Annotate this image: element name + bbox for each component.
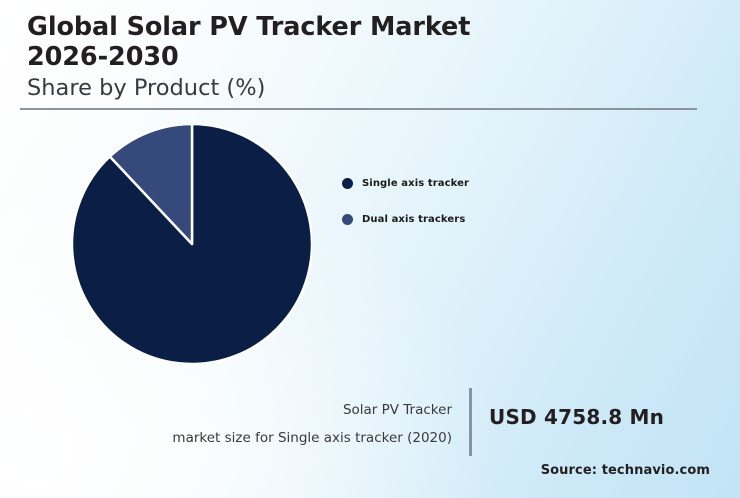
market-size-label: Solar PV Tracker market size for Single … bbox=[90, 396, 452, 452]
market-size-label-line1: Solar PV Tracker bbox=[90, 396, 452, 424]
legend-color-swatch-icon bbox=[342, 214, 353, 225]
legend-item-single-axis-tracker[interactable]: Single axis tracker bbox=[342, 170, 469, 196]
title-divider-rule bbox=[20, 108, 697, 110]
market-size-value: USD 4758.8 Mn bbox=[489, 405, 664, 429]
pie-chart-svg bbox=[72, 124, 312, 364]
source-attribution: Source: technavio.com bbox=[380, 463, 710, 478]
chart-canvas: Global Solar PV Tracker Market 2026-2030… bbox=[0, 0, 740, 498]
market-size-label-line2: market size for Single axis tracker (202… bbox=[90, 424, 452, 452]
page-subtitle: Share by Product (%) bbox=[27, 73, 707, 103]
footer-vertical-divider bbox=[469, 388, 472, 456]
legend-item-dual-axis-trackers[interactable]: Dual axis trackers bbox=[342, 206, 469, 232]
title-block: Global Solar PV Tracker Market 2026-2030… bbox=[27, 12, 707, 103]
pie-slice-group bbox=[72, 124, 312, 364]
pie-chart bbox=[72, 124, 312, 364]
legend-color-swatch-icon bbox=[342, 178, 353, 189]
page-title: Global Solar PV Tracker Market 2026-2030 bbox=[27, 12, 707, 72]
legend-item-label: Single axis tracker bbox=[362, 178, 469, 189]
chart-legend: Single axis tracker Dual axis trackers bbox=[342, 170, 469, 242]
legend-item-label: Dual axis trackers bbox=[362, 214, 465, 225]
